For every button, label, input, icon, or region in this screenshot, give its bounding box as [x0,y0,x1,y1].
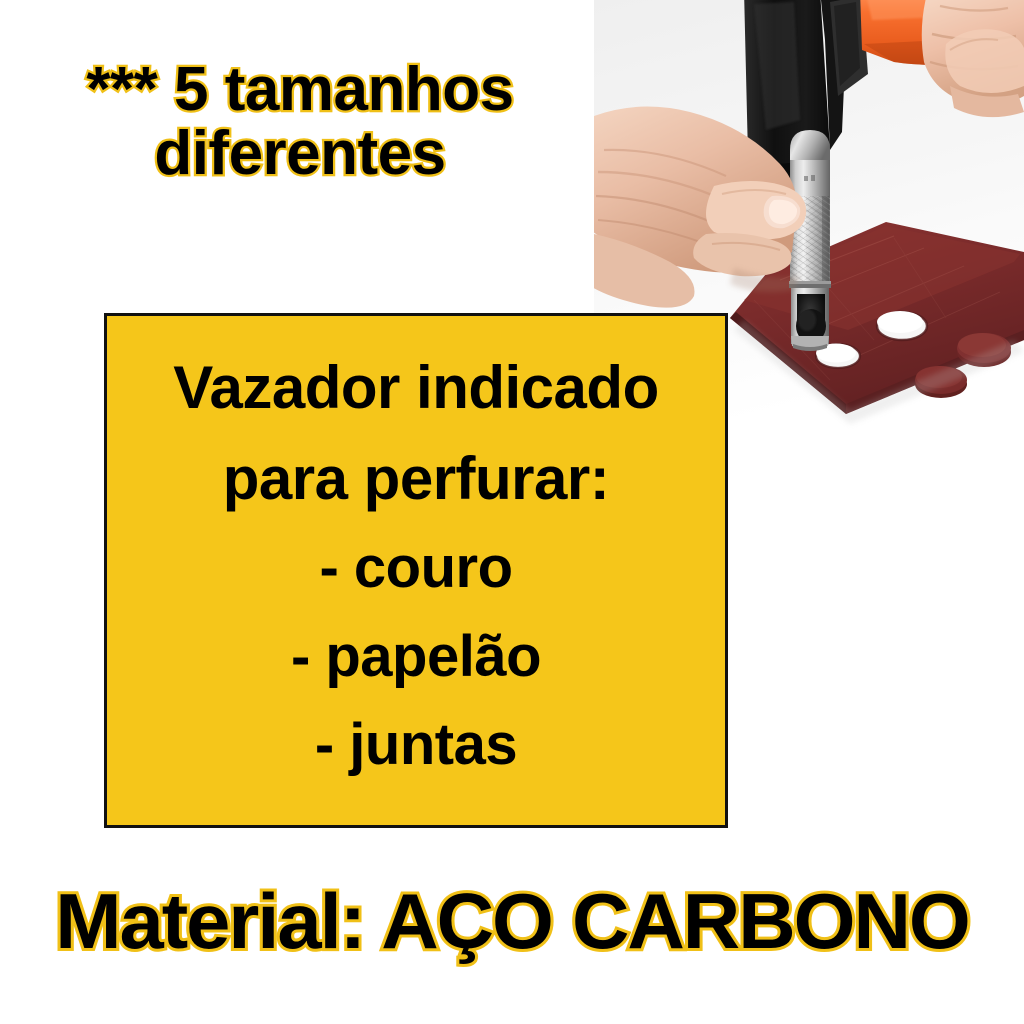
material-banner: Material: AÇO CARBONO [0,876,1024,967]
callout-line-2: para perfurar: [107,433,725,524]
callout-bullet-couro: - couro [107,524,725,612]
callout-bullet-papelao: - papelão [107,613,725,701]
callout-box: Vazador indicado para perfurar: - couro … [104,313,728,828]
headline-line-2: diferentes [0,122,600,186]
callout-bullet-juntas: - juntas [107,701,725,789]
headline: *** 5 tamanhos diferentes [0,58,600,186]
advertisement-canvas: *** 5 tamanhos diferentes Vazador indica… [0,0,1024,1024]
callout-line-1: Vazador indicado [107,342,725,433]
headline-line-1: *** 5 tamanhos [0,58,600,122]
steel-hole-punch [789,130,831,351]
